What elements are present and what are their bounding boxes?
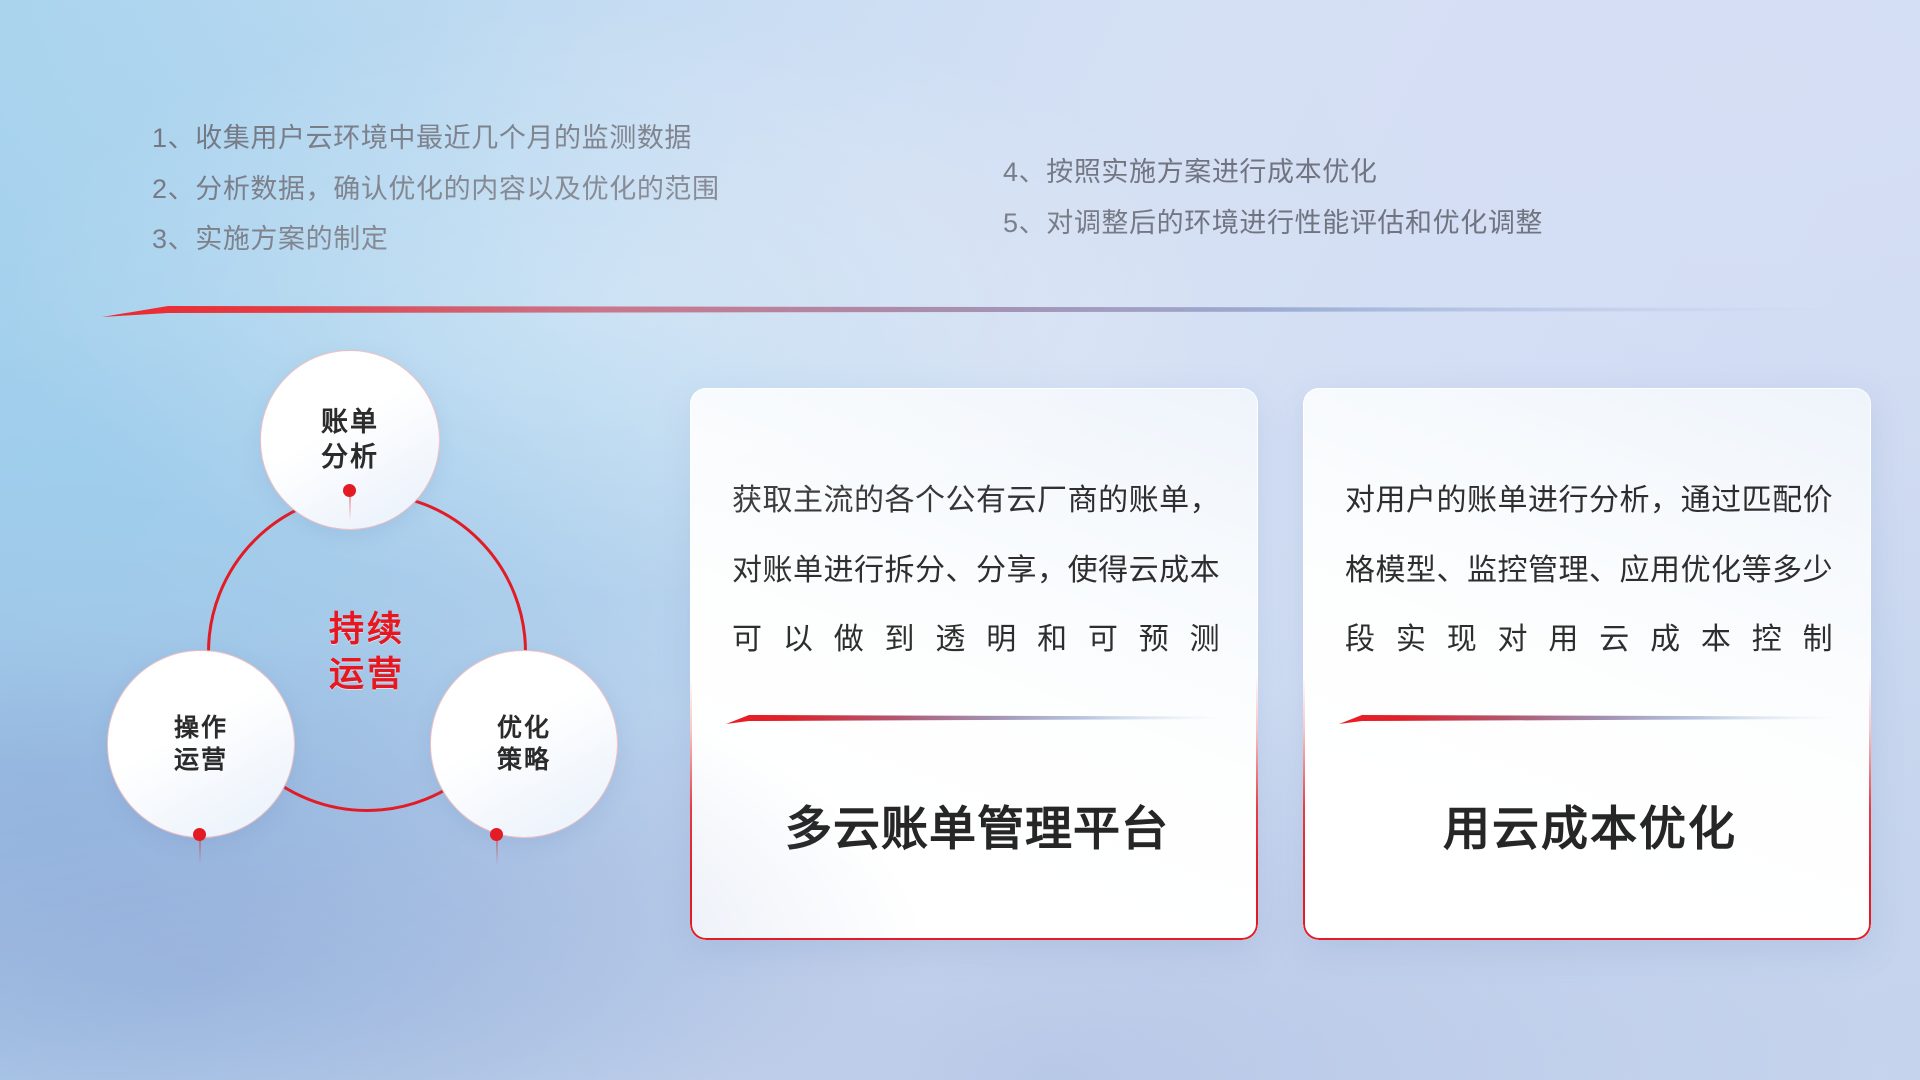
steps-left-column: 1、收集用户云环境中最近几个月的监测数据 2、分析数据，确认优化的内容以及优化的… [152,125,720,254]
step-item: 3、实施方案的制定 [152,226,720,254]
step-item: 4、按照实施方案进行成本优化 [1003,159,1543,187]
feature-card-multicloud-billing[interactable]: 获取主流的各个公有云厂商的账单，对账单进行拆分、分享，使得云成本可以做到透明和可… [690,388,1258,940]
node-label-line2: 分析 [321,440,379,475]
step-item: 2、分析数据，确认优化的内容以及优化的范围 [152,176,720,204]
slide-canvas: 1、收集用户云环境中最近几个月的监测数据 2、分析数据，确认优化的内容以及优化的… [0,0,1920,1080]
card-description: 对用户的账单进行分析，通过匹配价格模型、监控管理、应用优化等多少段实现对用云成本… [1345,466,1833,675]
card-divider [723,710,1223,728]
feature-card-cloud-cost-optimization[interactable]: 对用户的账单进行分析，通过匹配价格模型、监控管理、应用优化等多少段实现对用云成本… [1303,388,1871,940]
center-label-line1: 持续 [329,607,405,653]
step-item: 1、收集用户云环境中最近几个月的监测数据 [152,125,720,153]
center-label-line2: 运营 [329,652,405,698]
section-divider [98,300,1858,322]
continuous-operations-diagram: 持续 运营 账单 分析 操作 运营 优化 策略 [95,350,665,950]
steps-right-column: 4、按照实施方案进行成本优化 5、对调整后的环境进行性能评估和优化调整 [1003,159,1543,237]
connector-dot-icon [343,484,356,497]
connector-dot-icon [193,828,206,841]
connector-dot-icon [490,828,503,841]
card-divider [1336,710,1836,728]
card-title: 用云成本优化 [1345,790,1835,859]
center-label: 持续 运营 [207,492,527,812]
step-item: 5、对调整后的环境进行性能评估和优化调整 [1003,210,1543,238]
card-title: 多云账单管理平台 [732,790,1222,859]
card-description: 获取主流的各个公有云厂商的账单，对账单进行拆分、分享，使得云成本可以做到透明和可… [732,466,1220,675]
node-label-line1: 账单 [321,405,379,440]
